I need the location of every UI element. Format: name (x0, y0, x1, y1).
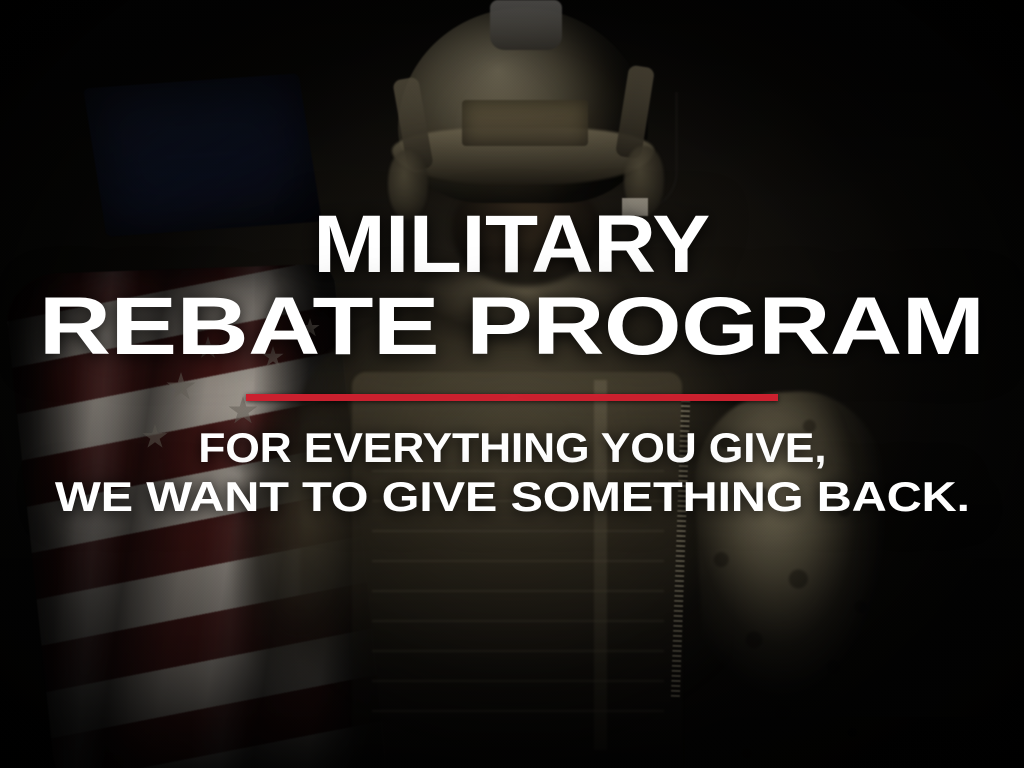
subheadline-line-1: FOR EVERYTHING YOU GIVE, (94, 425, 930, 470)
text-overlay: MILITARY REBATE PROGRAM FOR EVERYTHING Y… (0, 0, 1024, 768)
headline-line-1: MILITARY (101, 207, 923, 283)
headline: MILITARY REBATE PROGRAM (124, 0, 899, 366)
headline-line-2: REBATE PROGRAM (39, 289, 985, 365)
subheadline: FOR EVERYTHING YOU GIVE, WE WANT TO GIVE… (118, 425, 907, 520)
military-rebate-poster: MILITARY REBATE PROGRAM FOR EVERYTHING Y… (0, 0, 1024, 768)
red-divider-rule (246, 394, 778, 401)
subheadline-line-2: WE WANT TO GIVE SOMETHING BACK. (55, 474, 970, 519)
